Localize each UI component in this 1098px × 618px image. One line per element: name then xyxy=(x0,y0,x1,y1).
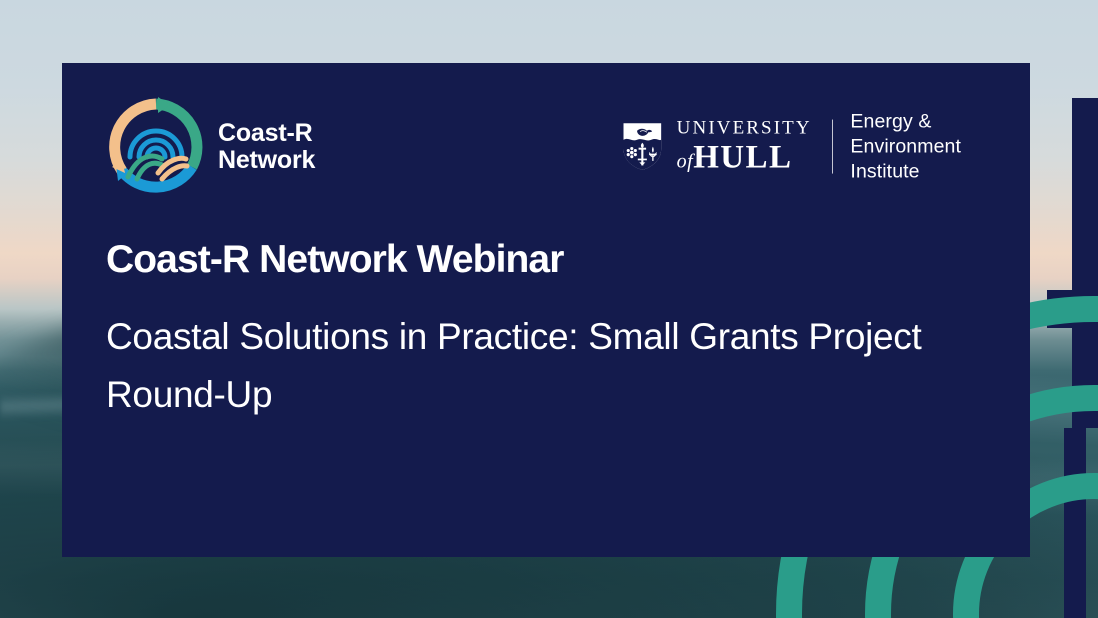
coast-r-wordmark: Coast-R Network xyxy=(218,120,315,175)
hull-hull-text: HULL xyxy=(693,140,792,176)
content-panel: Coast-R Network xyxy=(62,63,1030,557)
hull-wordmark: UNIVERSITY ofHULL xyxy=(677,119,812,175)
hull-shield-icon xyxy=(622,114,663,180)
hull-of-text: of xyxy=(677,151,694,173)
slide-canvas: Coast-R Network xyxy=(0,0,1098,618)
coast-r-logo-icon xyxy=(106,97,206,197)
hull-university-text: UNIVERSITY xyxy=(677,119,812,138)
coast-r-network-logo: Coast-R Network xyxy=(106,97,315,197)
page-subtitle: Coastal Solutions in Practice: Small Gra… xyxy=(106,308,986,424)
hull-of-hull-text: ofHULL xyxy=(677,142,812,175)
decor-navy-bar-stub xyxy=(1047,290,1074,328)
university-of-hull-logo: UNIVERSITY ofHULL Energy & Environment I… xyxy=(622,110,990,185)
decor-navy-bar-tall xyxy=(1072,98,1098,428)
logo-divider xyxy=(832,120,833,174)
logo-row: Coast-R Network xyxy=(106,97,990,197)
energy-environment-institute-text: Energy & Environment Institute xyxy=(850,110,990,185)
page-title: Coast-R Network Webinar xyxy=(106,238,564,282)
decor-navy-bar-lower xyxy=(1064,428,1086,618)
